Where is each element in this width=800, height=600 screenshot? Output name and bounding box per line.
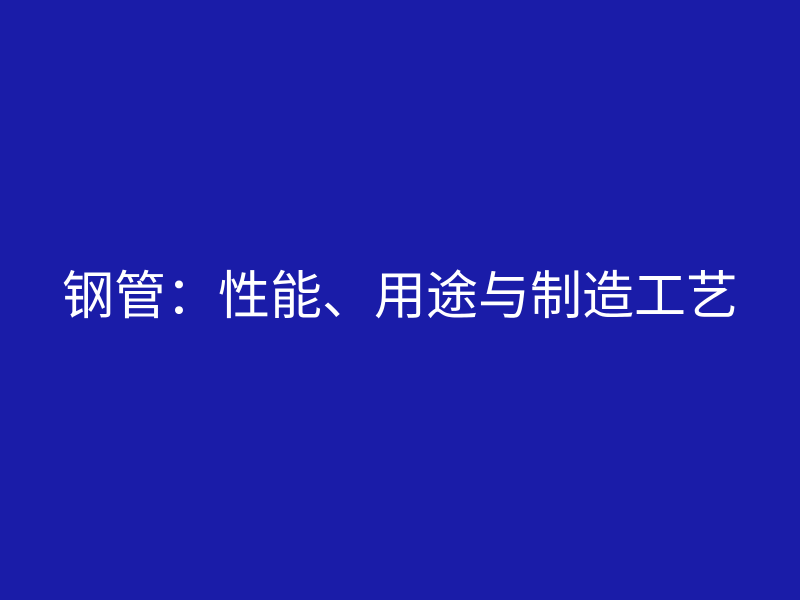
- title-slide: 钢管：性能、用途与制造工艺: [0, 0, 800, 600]
- title-block: 钢管：性能、用途与制造工艺: [0, 268, 800, 328]
- slide-title: 钢管：性能、用途与制造工艺: [62, 268, 738, 328]
